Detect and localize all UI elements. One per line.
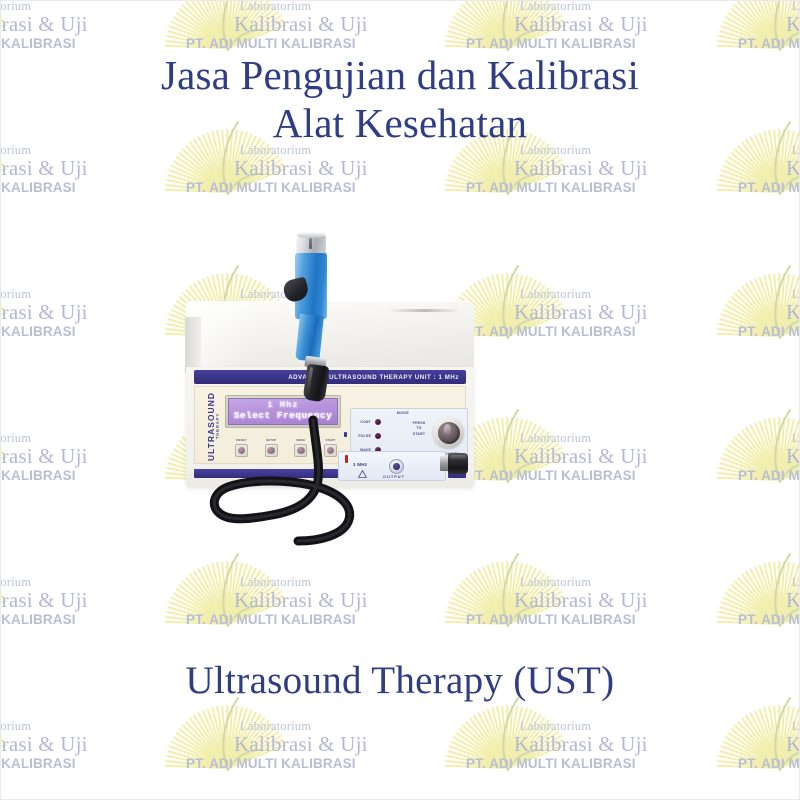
watermark-line-3: PT. ADI MULTI KALIBRASI [466,181,706,196]
watermark-line-2: Kalibrasi & Uji [216,157,426,181]
watermark-text: LaboratoriumKalibrasi & UjiPT. ADI MULTI… [768,0,800,51]
watermark-line-2: Kalibrasi & Uji [216,733,426,757]
watermark-line-3: PT. ADI MULTI KALIBRASI [0,613,146,628]
watermark-line-1: Laboratorium [496,720,706,733]
watermark-text: LaboratoriumKalibrasi & UjiPT. ADI MULTI… [496,144,706,195]
watermark-line-3: PT. ADI MULTI KALIBRASI [0,37,146,52]
watermark-text: LaboratoriumKalibrasi & UjiPT. ADI MULTI… [768,720,800,771]
watermark-line-3: PT. ADI MULTI KALIBRASI [466,613,706,628]
watermark-line-2: Kalibrasi & Uji [0,733,146,757]
watermark-line-2: Kalibrasi & Uji [496,13,706,37]
watermark-line-2: Kalibrasi & Uji [768,733,800,757]
watermark-line-1: Laboratorium [496,0,706,13]
page-title-line-1: Jasa Pengujian dan Kalibrasi [0,52,800,100]
watermark-line-3: PT. ADI MULTI KALIBRASI [738,181,800,196]
page-caption-text: Ultrasound Therapy (UST) [0,658,800,703]
watermark-line-1: Laboratorium [216,720,426,733]
watermark-line-1: Laboratorium [216,0,426,13]
connector-body [448,453,468,474]
watermark-line-3: PT. ADI MULTI KALIBRASI [0,181,146,196]
watermark-text: LaboratoriumKalibrasi & UjiPT. ADI MULTI… [216,0,426,51]
device-photo: ADVANCED ULTRASOUND THERAPY UNIT : 1 MHz… [0,225,800,585]
probe-cable [0,225,800,585]
ultrasound-transducer-probe[interactable] [286,233,356,423]
watermark-line-3: PT. ADI MULTI KALIBRASI [186,181,426,196]
watermark-line-2: Kalibrasi & Uji [496,733,706,757]
watermark-text: LaboratoriumKalibrasi & UjiPT. ADI MULTI… [216,720,426,771]
watermark-line-2: Kalibrasi & Uji [216,589,426,613]
watermark-line-2: Kalibrasi & Uji [768,13,800,37]
image-canvas: LaboratoriumKalibrasi & UjiPT. ADI MULTI… [0,0,800,800]
watermark-line-1: Laboratorium [0,720,146,733]
probe-strain-relief-boot [303,364,330,403]
watermark-line-2: Kalibrasi & Uji [0,13,146,37]
watermark-line-3: PT. ADI MULTI KALIBRASI [738,613,800,628]
watermark-line-1: Laboratorium [0,0,146,13]
watermark-line-2: Kalibrasi & Uji [496,589,706,613]
watermark-text: LaboratoriumKalibrasi & UjiPT. ADI MULTI… [496,720,706,771]
watermark-line-1: Laboratorium [768,0,800,13]
watermark-line-3: PT. ADI MULTI KALIBRASI [186,757,426,772]
watermark-line-3: PT. ADI MULTI KALIBRASI [466,757,706,772]
probe-neck [295,314,324,362]
watermark-line-3: PT. ADI MULTI KALIBRASI [738,757,800,772]
watermark-text: LaboratoriumKalibrasi & UjiPT. ADI MULTI… [496,0,706,51]
watermark-text: LaboratoriumKalibrasi & UjiPT. ADI MULTI… [768,144,800,195]
watermark-line-2: Kalibrasi & Uji [0,157,146,181]
watermark-text: LaboratoriumKalibrasi & UjiPT. ADI MULTI… [216,144,426,195]
watermark-line-2: Kalibrasi & Uji [496,157,706,181]
watermark-line-2: Kalibrasi & Uji [216,13,426,37]
watermark-line-3: PT. ADI MULTI KALIBRASI [466,37,706,52]
probe-head-notch [309,238,312,249]
watermark-text: LaboratoriumKalibrasi & UjiPT. ADI MULTI… [0,720,146,771]
watermark-line-1: Laboratorium [768,720,800,733]
watermark-line-3: PT. ADI MULTI KALIBRASI [186,37,426,52]
cable-connector-plug[interactable] [440,453,468,474]
page-title-line-2: Alat Kesehatan [0,100,800,148]
page-title: Jasa Pengujian dan Kalibrasi Alat Keseha… [0,52,800,147]
watermark-line-3: PT. ADI MULTI KALIBRASI [0,757,146,772]
watermark-line-3: PT. ADI MULTI KALIBRASI [186,613,426,628]
page-caption: Ultrasound Therapy (UST) [0,658,800,703]
watermark-line-3: PT. ADI MULTI KALIBRASI [738,37,800,52]
watermark-line-2: Kalibrasi & Uji [0,589,146,613]
watermark-line-2: Kalibrasi & Uji [768,157,800,181]
watermark-text: LaboratoriumKalibrasi & UjiPT. ADI MULTI… [0,0,146,51]
watermark-line-2: Kalibrasi & Uji [768,589,800,613]
watermark-text: LaboratoriumKalibrasi & UjiPT. ADI MULTI… [0,144,146,195]
